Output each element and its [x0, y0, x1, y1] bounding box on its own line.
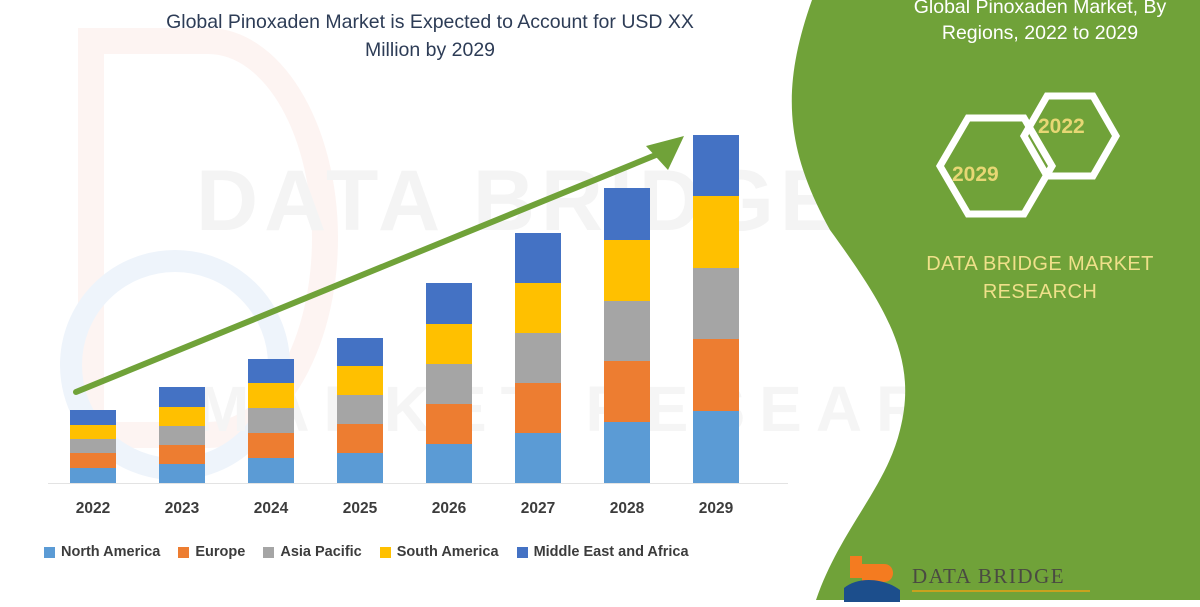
- bar-segment: [604, 301, 650, 361]
- hexagon-group: 2022 2029: [920, 88, 1140, 248]
- x-axis-labels: 20222023202420252026202720282029: [0, 500, 790, 524]
- bar-segment: [693, 411, 739, 483]
- legend-label: North America: [61, 544, 160, 560]
- axis-baseline: [48, 483, 788, 484]
- bar-segment: [70, 468, 116, 483]
- x-axis-label-2024: 2024: [236, 500, 306, 518]
- bar-segment: [248, 383, 294, 408]
- legend-swatch-icon: [517, 547, 528, 558]
- bar-segment: [159, 464, 205, 483]
- bar-segment: [248, 408, 294, 433]
- bar-segment: [693, 339, 739, 411]
- bar-2028: [604, 188, 650, 483]
- bar-segment: [159, 387, 205, 407]
- bar-segment: [337, 453, 383, 483]
- bar-segment: [426, 404, 472, 444]
- bar-segment: [70, 453, 116, 468]
- bar-2022: [70, 410, 116, 483]
- bar-segment: [515, 283, 561, 333]
- legend-item[interactable]: Middle East and Africa: [517, 544, 689, 560]
- bar-segment: [426, 283, 472, 324]
- bar-segment: [515, 383, 561, 433]
- x-axis-label-2022: 2022: [58, 500, 128, 518]
- bar-segment: [159, 407, 205, 426]
- legend-item[interactable]: Asia Pacific: [263, 544, 361, 560]
- chart-plot-area: 20222023202420252026202720282029 North A…: [0, 0, 820, 600]
- legend-swatch-icon: [380, 547, 391, 558]
- dbmr-logo-underline: [912, 590, 1090, 592]
- legend-item[interactable]: North America: [44, 544, 160, 560]
- bar-segment: [515, 233, 561, 283]
- x-axis-label-2023: 2023: [147, 500, 217, 518]
- bar-segment: [426, 324, 472, 364]
- x-axis-label-2026: 2026: [414, 500, 484, 518]
- x-axis-label-2027: 2027: [503, 500, 573, 518]
- bar-segment: [693, 268, 739, 339]
- dbmr-logo-mark-icon: [840, 556, 904, 602]
- hexagon-label-start-year: 2022: [1038, 115, 1085, 139]
- legend-label: Middle East and Africa: [534, 544, 689, 560]
- bar-segment: [604, 422, 650, 483]
- bar-2025: [337, 338, 383, 483]
- brand-name: DATA BRIDGE MARKET RESEARCH: [895, 250, 1185, 306]
- bar-segment: [70, 439, 116, 453]
- bar-segment: [337, 424, 383, 453]
- bar-segment: [604, 361, 650, 422]
- bar-2023: [159, 387, 205, 483]
- dbmr-logo: DATA BRIDGE: [840, 556, 1200, 602]
- bar-segment: [337, 366, 383, 395]
- bar-segment: [159, 445, 205, 464]
- legend-label: South America: [397, 544, 499, 560]
- infographic-canvas: DATA BRIDGE MARKET RESEARCH Global Pinox…: [0, 0, 1200, 600]
- bar-segment: [248, 458, 294, 483]
- bar-segment: [515, 333, 561, 383]
- bar-segment: [515, 433, 561, 483]
- bar-2026: [426, 283, 472, 483]
- bar-2027: [515, 233, 561, 483]
- x-axis-label-2025: 2025: [325, 500, 395, 518]
- legend-item[interactable]: Europe: [178, 544, 245, 560]
- legend-swatch-icon: [178, 547, 189, 558]
- legend-swatch-icon: [263, 547, 274, 558]
- legend-label: Europe: [195, 544, 245, 560]
- legend-label: Asia Pacific: [280, 544, 361, 560]
- x-axis-label-2029: 2029: [681, 500, 751, 518]
- chart-legend: North AmericaEuropeAsia PacificSouth Ame…: [44, 541, 784, 563]
- bar-2024: [248, 359, 294, 483]
- bar-segment: [159, 426, 205, 445]
- hexagon-label-end-year: 2029: [952, 163, 999, 187]
- bar-segment: [248, 359, 294, 383]
- bar-segment: [70, 410, 116, 425]
- bar-segment: [693, 135, 739, 196]
- bar-2029: [693, 135, 739, 483]
- bar-segment: [70, 425, 116, 439]
- legend-item[interactable]: South America: [380, 544, 499, 560]
- dbmr-logo-text: DATA BRIDGE: [912, 564, 1065, 589]
- legend-swatch-icon: [44, 547, 55, 558]
- x-axis-label-2028: 2028: [592, 500, 662, 518]
- bar-segment: [604, 240, 650, 301]
- bar-segment: [426, 364, 472, 404]
- bar-segment: [248, 433, 294, 458]
- bar-segment: [604, 188, 650, 240]
- bar-segment: [426, 444, 472, 483]
- bar-segment: [337, 395, 383, 424]
- panel-title: Global Pinoxaden Market, By Regions, 202…: [880, 0, 1200, 46]
- bar-segment: [693, 196, 739, 268]
- bar-segment: [337, 338, 383, 366]
